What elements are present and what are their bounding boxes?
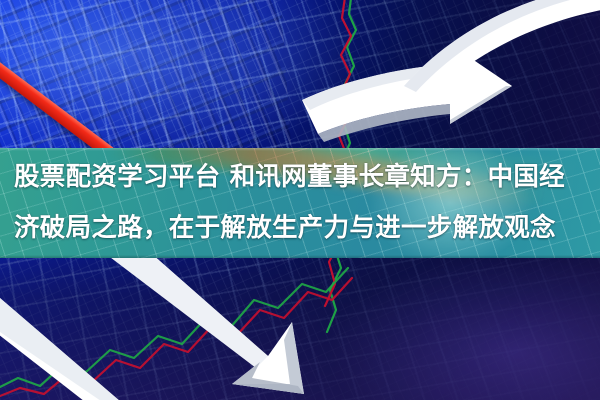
headline-line-1: 股票配资学习平台 和讯网董事长章知方：中国经 <box>14 152 586 203</box>
headline-line-2: 济破局之路，在于解放生产力与进一步解放观念 <box>14 203 586 254</box>
band-bottom-edge <box>0 255 600 258</box>
banner-image: 股票配资学习平台 和讯网董事长章知方：中国经 济破局之路，在于解放生产力与进一步… <box>0 0 600 400</box>
arrow-curve-top-right <box>398 0 600 102</box>
arrow-down-right-small <box>0 300 160 400</box>
headline-text: 股票配资学习平台 和讯网董事长章知方：中国经 济破局之路，在于解放生产力与进一步… <box>0 152 600 254</box>
band-top-edge <box>0 148 600 151</box>
